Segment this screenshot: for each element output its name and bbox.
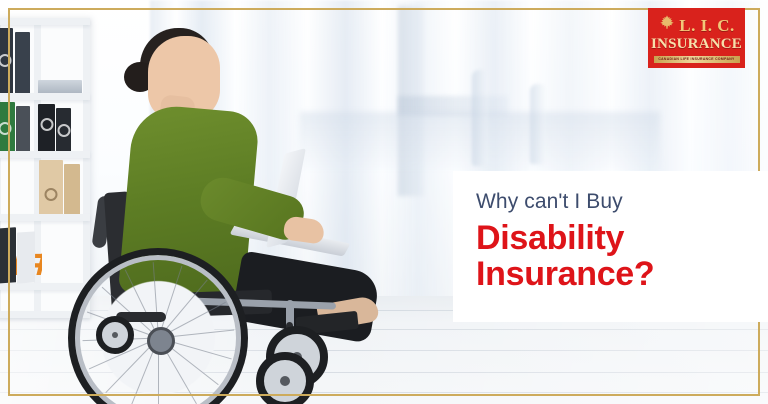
logo-primary-row: L. I. C.	[651, 14, 742, 36]
person-in-wheelchair	[0, 0, 430, 404]
background-bottle	[530, 84, 546, 164]
background-bottle	[472, 70, 488, 166]
headline-line-2: Insurance?	[476, 256, 768, 292]
wheelchair-caster-wheel	[96, 316, 134, 354]
wheelchair-caster-wheel	[256, 352, 314, 404]
logo-lic-text: L. I. C.	[679, 17, 734, 34]
headline-line-1: Disability	[476, 220, 768, 256]
logo-tagline: CANADIAN LIFE INSURANCE COMPANY	[654, 56, 740, 63]
wheel-hub	[147, 327, 175, 355]
kicker-text: Why can't I Buy	[476, 191, 768, 213]
logo-insurance-text: INSURANCE	[651, 37, 742, 53]
promotional-banner: W#	[0, 0, 768, 404]
headline-text: Disability Insurance?	[476, 220, 768, 293]
lic-insurance-logo[interactable]: L. I. C. INSURANCE CANADIAN LIFE INSURAN…	[648, 8, 745, 68]
headline-panel: Why can't I Buy Disability Insurance?	[453, 171, 768, 322]
maple-leaf-icon	[658, 14, 676, 36]
